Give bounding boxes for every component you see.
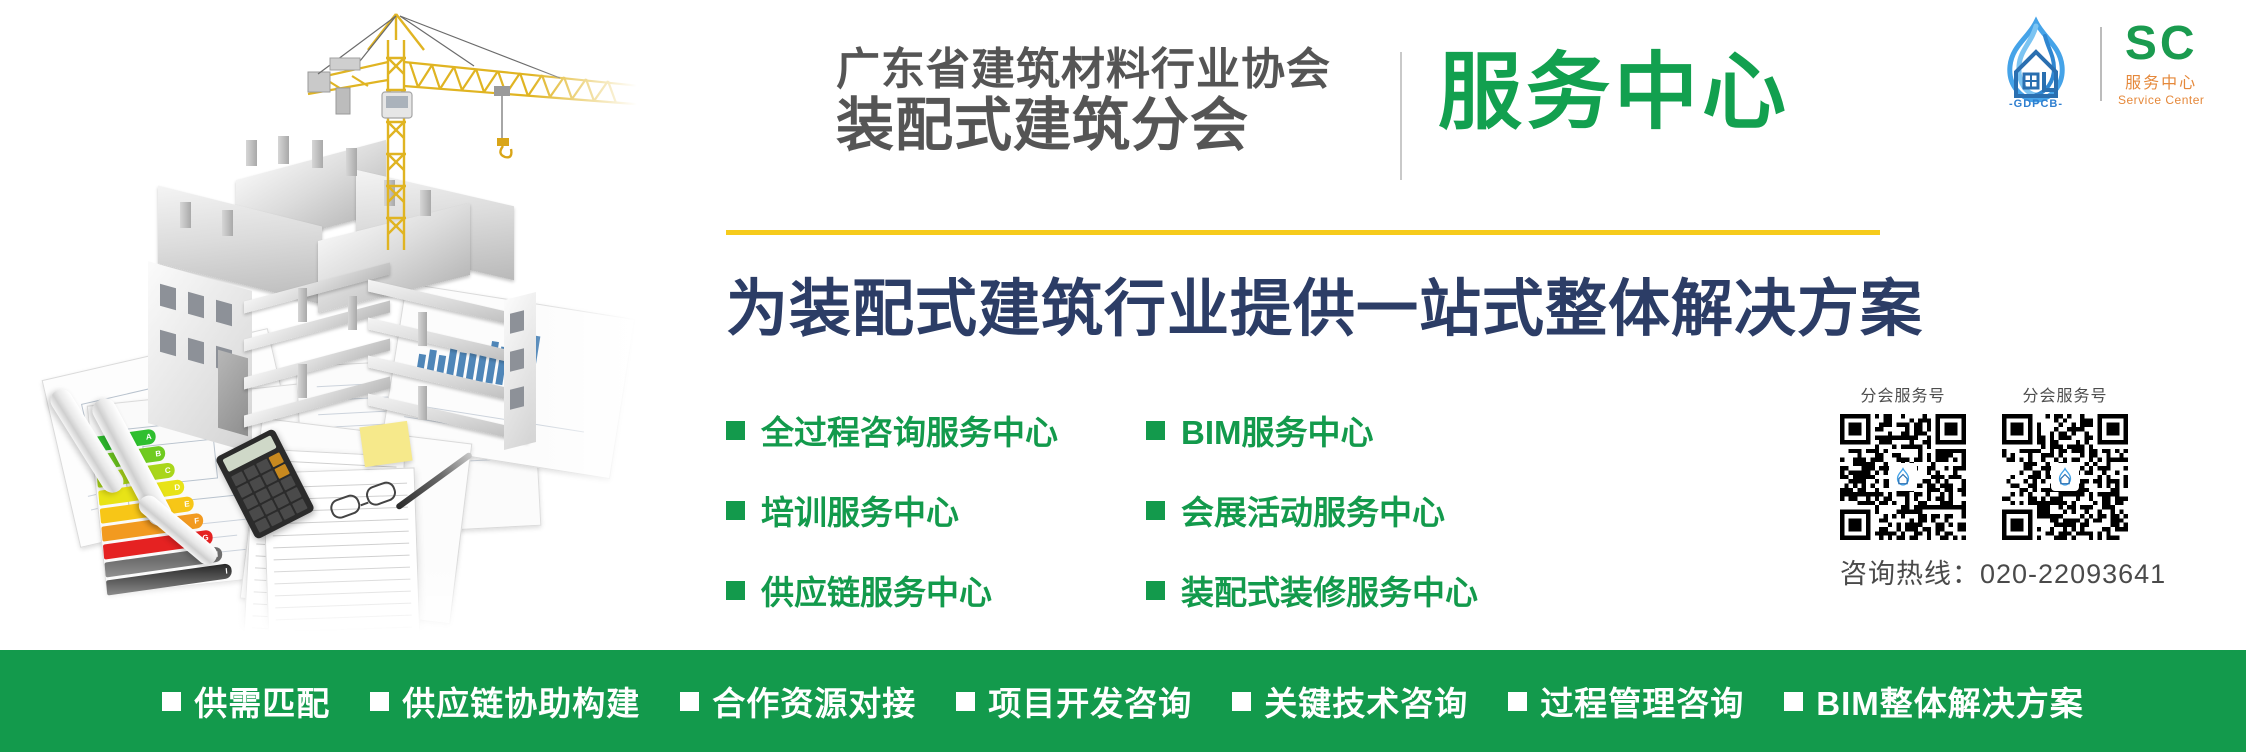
- association-name: 广东省建筑材料行业协会 装配式建筑分会: [836, 46, 1366, 156]
- bottom-bar-item[interactable]: 关键技术咨询: [1232, 677, 1468, 725]
- bottom-bar-item[interactable]: 项目开发咨询: [956, 677, 1192, 725]
- bottom-bar-label: 关键技术咨询: [1264, 677, 1468, 725]
- promo-banner: A B C D E F G H I: [0, 0, 2246, 752]
- qr-code-label: 分会服务号: [1860, 382, 1945, 406]
- bottom-bar-item[interactable]: BIM整体解决方案: [1784, 677, 2084, 725]
- qr-center-logo-icon: [1889, 463, 1917, 491]
- service-item-label: 供应链服务中心: [761, 566, 992, 614]
- bullet-square-icon: [1508, 692, 1527, 711]
- logo-en-text: Service Center: [2118, 93, 2204, 107]
- bottom-bar-label: 供需匹配: [194, 677, 330, 725]
- qr-center-logo-icon: [2051, 463, 2079, 491]
- service-item-label: 装配式装修服务中心: [1181, 566, 1478, 614]
- bottom-bar-label: 供应链协助构建: [402, 677, 640, 725]
- bottom-bar-label: 过程管理咨询: [1540, 677, 1744, 725]
- service-center-lists: 全过程咨询服务中心 培训服务中心 供应链服务中心 BIM服务中心 会展活动服务中…: [726, 406, 1806, 614]
- service-item-label: 全过程咨询服务中心: [761, 406, 1058, 454]
- bullet-square-icon: [1232, 692, 1251, 711]
- association-line1: 广东省建筑材料行业协会: [836, 46, 1366, 94]
- logo-divider: [2100, 27, 2102, 101]
- hotline-text: 咨询热线：020-22093641: [1840, 552, 2166, 591]
- bullet-square-icon: [1146, 501, 1165, 520]
- bullet-square-icon: [1146, 581, 1165, 600]
- bottom-bar-label: BIM整体解决方案: [1816, 677, 2084, 725]
- logo-sc-text: SC: [2125, 21, 2198, 67]
- service-item[interactable]: 会展活动服务中心: [1146, 486, 1478, 534]
- hero-construction-image: A B C D E F G H I: [0, 0, 660, 650]
- hero-fade-bottom: [0, 560, 660, 650]
- service-item[interactable]: BIM服务中心: [1146, 406, 1478, 454]
- bottom-bar-item[interactable]: 供需匹配: [162, 677, 330, 725]
- service-item-label: BIM服务中心: [1181, 406, 1374, 454]
- qr-code-image[interactable]: [2002, 414, 2128, 540]
- logo-cn-text: 服务中心: [2125, 69, 2197, 93]
- qr-code-label: 分会服务号: [2022, 382, 2107, 406]
- bullet-square-icon: [1146, 421, 1165, 440]
- bottom-bar-item[interactable]: 过程管理咨询: [1508, 677, 1744, 725]
- bullet-square-icon: [726, 421, 745, 440]
- bottom-bar-item[interactable]: 合作资源对接: [680, 677, 916, 725]
- service-item-label: 培训服务中心: [761, 486, 959, 534]
- service-item[interactable]: 供应链服务中心: [726, 566, 1146, 614]
- bullet-square-icon: [726, 581, 745, 600]
- bullet-square-icon: [370, 692, 389, 711]
- bottom-bar-label: 项目开发咨询: [988, 677, 1192, 725]
- qr-code-image[interactable]: [1840, 414, 1966, 540]
- page-tagline: 为装配式建筑行业提供一站式整体解决方案: [726, 258, 1923, 348]
- bottom-services-bar: 供需匹配 供应链协助构建 合作资源对接 项目开发咨询 关键技术咨询 过程管理咨询…: [0, 650, 2246, 752]
- bullet-square-icon: [726, 501, 745, 520]
- logo-text: SC 服务中心 Service Center: [2118, 21, 2204, 107]
- bottom-bar-label: 合作资源对接: [712, 677, 916, 725]
- yellow-divider: [726, 230, 1880, 235]
- bullet-square-icon: [956, 692, 975, 711]
- service-item[interactable]: 装配式装修服务中心: [1146, 566, 1478, 614]
- bullet-square-icon: [680, 692, 699, 711]
- qr-code-section: 分会服务号 分会服务号: [1840, 382, 2128, 540]
- association-line2: 装配式建筑分会: [836, 96, 1366, 157]
- service-list-left: 全过程咨询服务中心 培训服务中心 供应链服务中心: [726, 406, 1146, 614]
- hero-fade-right: [530, 0, 660, 650]
- service-list-right: BIM服务中心 会展活动服务中心 装配式装修服务中心: [1146, 406, 1478, 614]
- bottom-bar-item[interactable]: 供应链协助构建: [370, 677, 640, 725]
- service-item[interactable]: 全过程咨询服务中心: [726, 406, 1146, 454]
- bullet-square-icon: [1784, 692, 1803, 711]
- gdpcb-label: -GDPCB-: [1988, 98, 2084, 110]
- service-center-title: 服务中心: [1438, 48, 1790, 136]
- service-item-label: 会展活动服务中心: [1181, 486, 1445, 534]
- header-divider: [1400, 52, 1402, 180]
- qr-code-item[interactable]: 分会服务号: [2002, 382, 2128, 540]
- bullet-square-icon: [162, 692, 181, 711]
- sticky-note: [359, 421, 412, 467]
- service-item[interactable]: 培训服务中心: [726, 486, 1146, 534]
- qr-code-item[interactable]: 分会服务号: [1840, 382, 1966, 540]
